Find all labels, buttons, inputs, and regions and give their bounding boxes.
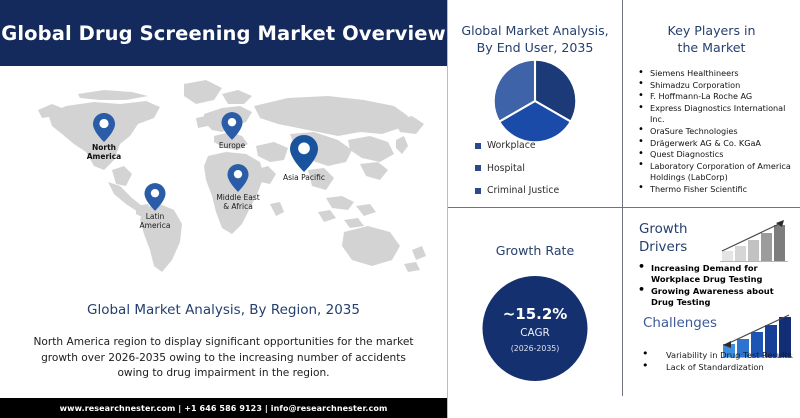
end-user-panel-title: Global Market Analysis, By End User, 203… <box>448 22 622 56</box>
growth-drivers-bar-chart <box>718 218 792 269</box>
map-pin-europe[interactable]: Europe <box>222 112 243 140</box>
legend-label: Criminal Justice <box>487 185 559 196</box>
map-pin-asia-pacific[interactable]: Asia Pacific <box>290 135 318 172</box>
growth-rate-title: Growth Rate <box>448 242 622 259</box>
map-pin-label-north-america: NorthAmerica <box>87 143 121 161</box>
location-pin-icon <box>93 113 115 142</box>
legend-item: Hospital <box>475 163 559 174</box>
list-item: Lack of Standardization <box>633 362 798 373</box>
map-pin-latin-america[interactable]: LatinAmerica <box>145 183 166 211</box>
growth-drivers-list: Increasing Demand for Workplace Drug Tes… <box>633 263 798 309</box>
growth-rate-panel: Growth Rate ~15.2% CAGR (2026-2035) <box>448 208 622 418</box>
growth-rate-metric: CAGR <box>520 327 549 339</box>
growth-drivers-title: Growth Drivers <box>639 221 729 256</box>
list-item: Siemens Healthineers <box>637 68 797 79</box>
list-item: OraSure Technologies <box>637 126 797 137</box>
challenges-list: Variability in Drug Test Results Lack of… <box>633 350 798 375</box>
location-pin-icon <box>222 112 243 140</box>
legend-swatch-icon <box>475 188 481 194</box>
growth-rate-value: ~15.2% <box>503 305 568 323</box>
legend-item: Workplace <box>475 140 559 151</box>
map-pin-middle-east-africa[interactable]: Middle East& Africa <box>228 164 249 192</box>
list-item: Thermo Fisher Scientific <box>637 184 797 195</box>
world-map-svg <box>8 74 440 280</box>
region-analysis-title: Global Market Analysis, By Region, 2035 <box>0 302 447 318</box>
list-item: F. Hoffmann-La Roche AG <box>637 91 797 102</box>
map-pin-label-asia-pacific: Asia Pacific <box>283 173 325 182</box>
infographic-root: Global Drug Screening Market Overview <box>0 0 800 418</box>
end-user-panel: Global Market Analysis, By End User, 203… <box>448 0 622 207</box>
growth-rate-circle: ~15.2% CAGR (2026-2035) <box>483 276 588 381</box>
map-pin-label-middle-east-africa: Middle East& Africa <box>216 193 259 211</box>
legend-swatch-icon <box>475 165 481 171</box>
list-item: Increasing Demand for Workplace Drug Tes… <box>633 263 798 286</box>
pie-chart-svg <box>492 58 578 144</box>
page-title: Global Drug Screening Market Overview <box>0 0 447 66</box>
list-item: Laboratory Corporation of America Holdin… <box>637 161 797 183</box>
key-players-list: Siemens Healthineers Shimadzu Corporatio… <box>637 68 797 195</box>
map-pin-north-america[interactable]: NorthAmerica <box>93 113 115 142</box>
key-players-panel: Key Players in the Market Siemens Health… <box>623 0 800 207</box>
key-players-title: Key Players in the Market <box>623 22 800 56</box>
legend-label: Hospital <box>487 163 525 174</box>
list-item: Variability in Drug Test Results <box>633 350 798 361</box>
footer-bar: www.researchnester.com | +1 646 586 9123… <box>0 398 447 418</box>
list-item: Growing Awareness about Drug Testing <box>633 286 798 309</box>
drivers-challenges-panel: Growth Drivers Increasing Demand for Wor… <box>623 208 800 418</box>
list-item: Drägerwerk AG & Co. KGaA <box>637 138 797 149</box>
region-analysis-description: North America region to display signific… <box>24 335 423 382</box>
legend-swatch-icon <box>475 143 481 149</box>
legend-item: Criminal Justice <box>475 185 559 196</box>
end-user-pie-chart <box>492 58 578 149</box>
list-item: Express Diagnostics International Inc. <box>637 103 797 125</box>
legend-label: Workplace <box>487 140 536 151</box>
map-pin-label-europe: Europe <box>219 141 245 150</box>
end-user-legend: Workplace Hospital Criminal Justice <box>475 140 559 208</box>
footer-contact-text: www.researchnester.com | +1 646 586 9123… <box>60 404 388 413</box>
location-pin-icon <box>145 183 166 211</box>
world-map: NorthAmerica LatinAmerica Europe <box>0 66 447 288</box>
bar-chart-gray-svg <box>718 218 792 264</box>
map-pin-label-latin-america: LatinAmerica <box>140 212 171 230</box>
growth-rate-period: (2026-2035) <box>511 344 560 353</box>
list-item: Quest Diagnostics <box>637 149 797 160</box>
location-pin-icon <box>228 164 249 192</box>
left-panel: Global Drug Screening Market Overview <box>0 0 447 418</box>
location-pin-icon <box>290 135 318 172</box>
list-item: Shimadzu Corporation <box>637 80 797 91</box>
